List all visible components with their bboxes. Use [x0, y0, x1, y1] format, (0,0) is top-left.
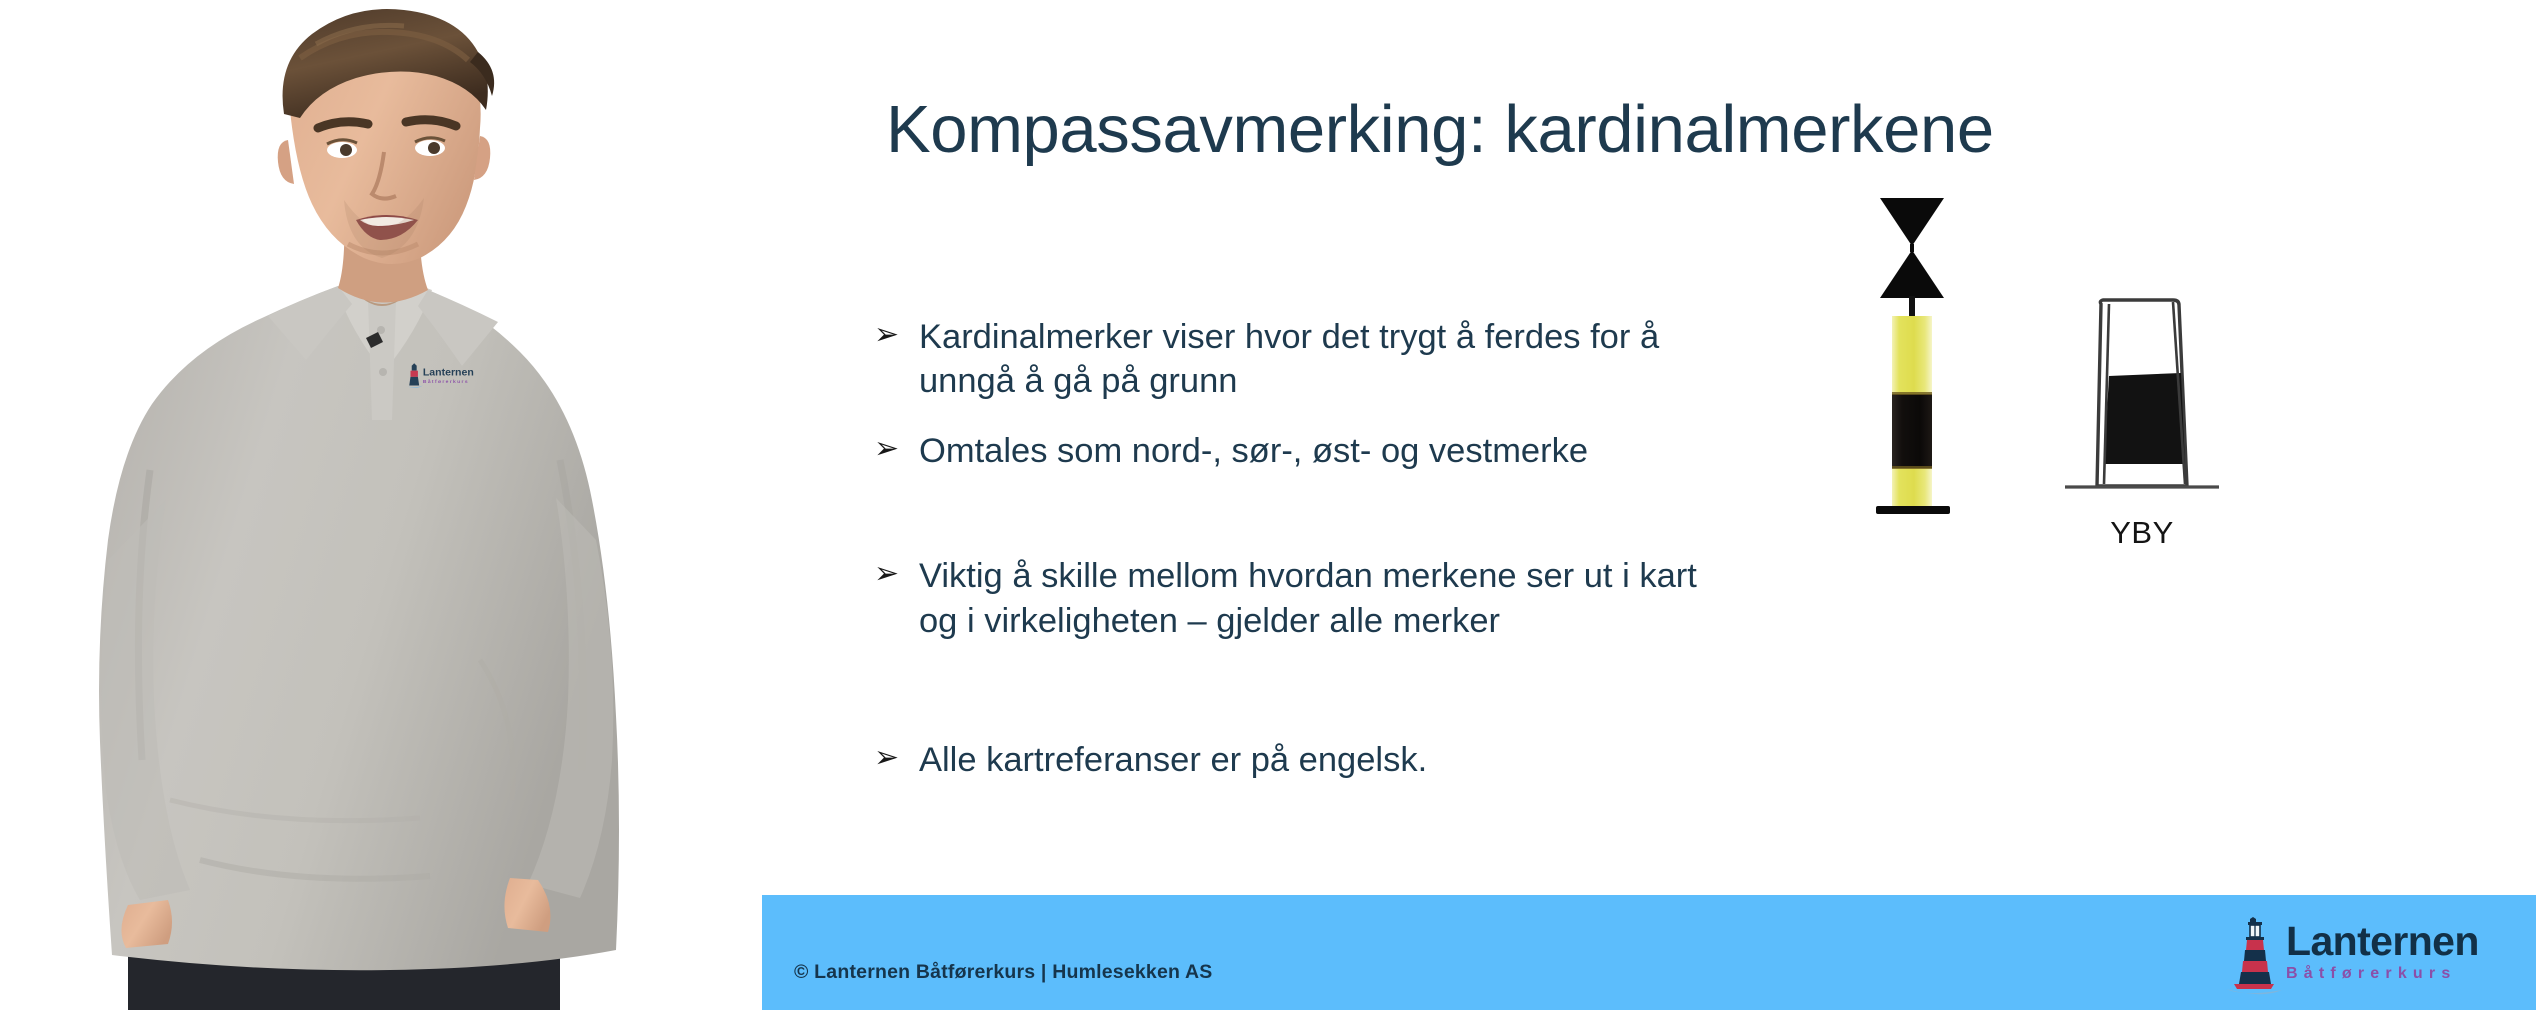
arrow-bullet-icon: ➢ [874, 555, 899, 593]
list-item: ➢ Omtales som nord-, sør-, øst- og vestm… [874, 429, 1704, 473]
pole-black-band [1892, 394, 1932, 468]
copyright-text: © Lanternen Båtførerkurs | Humlesekken A… [794, 961, 1213, 984]
list-item: ➢ Kardinalmerker viser hvor det trygt å … [874, 315, 1704, 403]
list-item: ➢ Viktig å skille mellom hvordan merkene… [874, 554, 1704, 642]
page-title: Kompassavmerking: kardinalmerkene [886, 92, 2446, 167]
arrow-bullet-icon: ➢ [874, 430, 899, 468]
pole-yellow-upper [1892, 316, 1932, 394]
chart-symbol-label: YBY [2057, 515, 2227, 551]
logo-sub-text: Båtførerkurs [2286, 966, 2479, 982]
list-item-label: Alle kartreferanser er på engelsk. [919, 741, 1427, 779]
list-item: ➢ Alle kartreferanser er på engelsk. [874, 738, 1704, 782]
brand-logo: Lanternen Båtførerkurs [2224, 915, 2514, 1000]
bullet-list: ➢ Kardinalmerker viser hvor det trygt å … [874, 315, 1704, 782]
list-item-label: Omtales som nord-, sør-, øst- og vestmer… [919, 432, 1588, 470]
logo-wordmark: Lanternen Båtførerkurs [2286, 921, 2479, 982]
beacon-black-band [2104, 373, 2185, 464]
chart-beacon-symbol-figure [2057, 290, 2227, 520]
list-item-label: Kardinalmerker viser hvor det trygt å fe… [919, 318, 1659, 400]
presentation-viewer: Lanternen Båtførerkurs Kompassavmerking:… [0, 0, 2536, 1010]
topmark-upper-cone [1880, 198, 1944, 246]
pole-yellow-lower [1892, 468, 1932, 508]
buoy-base [1876, 506, 1950, 514]
arrow-bullet-icon: ➢ [874, 316, 899, 354]
presenter-video-panel: Lanternen Båtførerkurs [0, 0, 762, 1010]
west-cardinal-mark-buoy-figure [1862, 190, 2042, 520]
lighthouse-icon [2224, 917, 2286, 997]
arrow-bullet-icon: ➢ [874, 739, 899, 777]
list-item-label: Viktig å skille mellom hvordan merkene s… [919, 557, 1697, 639]
svg-text:Lanternen: Lanternen [423, 367, 474, 379]
slide-content: Kompassavmerking: kardinalmerkene ➢ Kard… [762, 0, 2536, 1010]
presenter-image: Lanternen Båtførerkurs [0, 0, 762, 1010]
logo-main-text: Lanternen [2286, 921, 2479, 962]
topmark-lower-cone [1880, 250, 1944, 298]
slide-footer-bar: © Lanternen Båtførerkurs | Humlesekken A… [762, 895, 2536, 1010]
